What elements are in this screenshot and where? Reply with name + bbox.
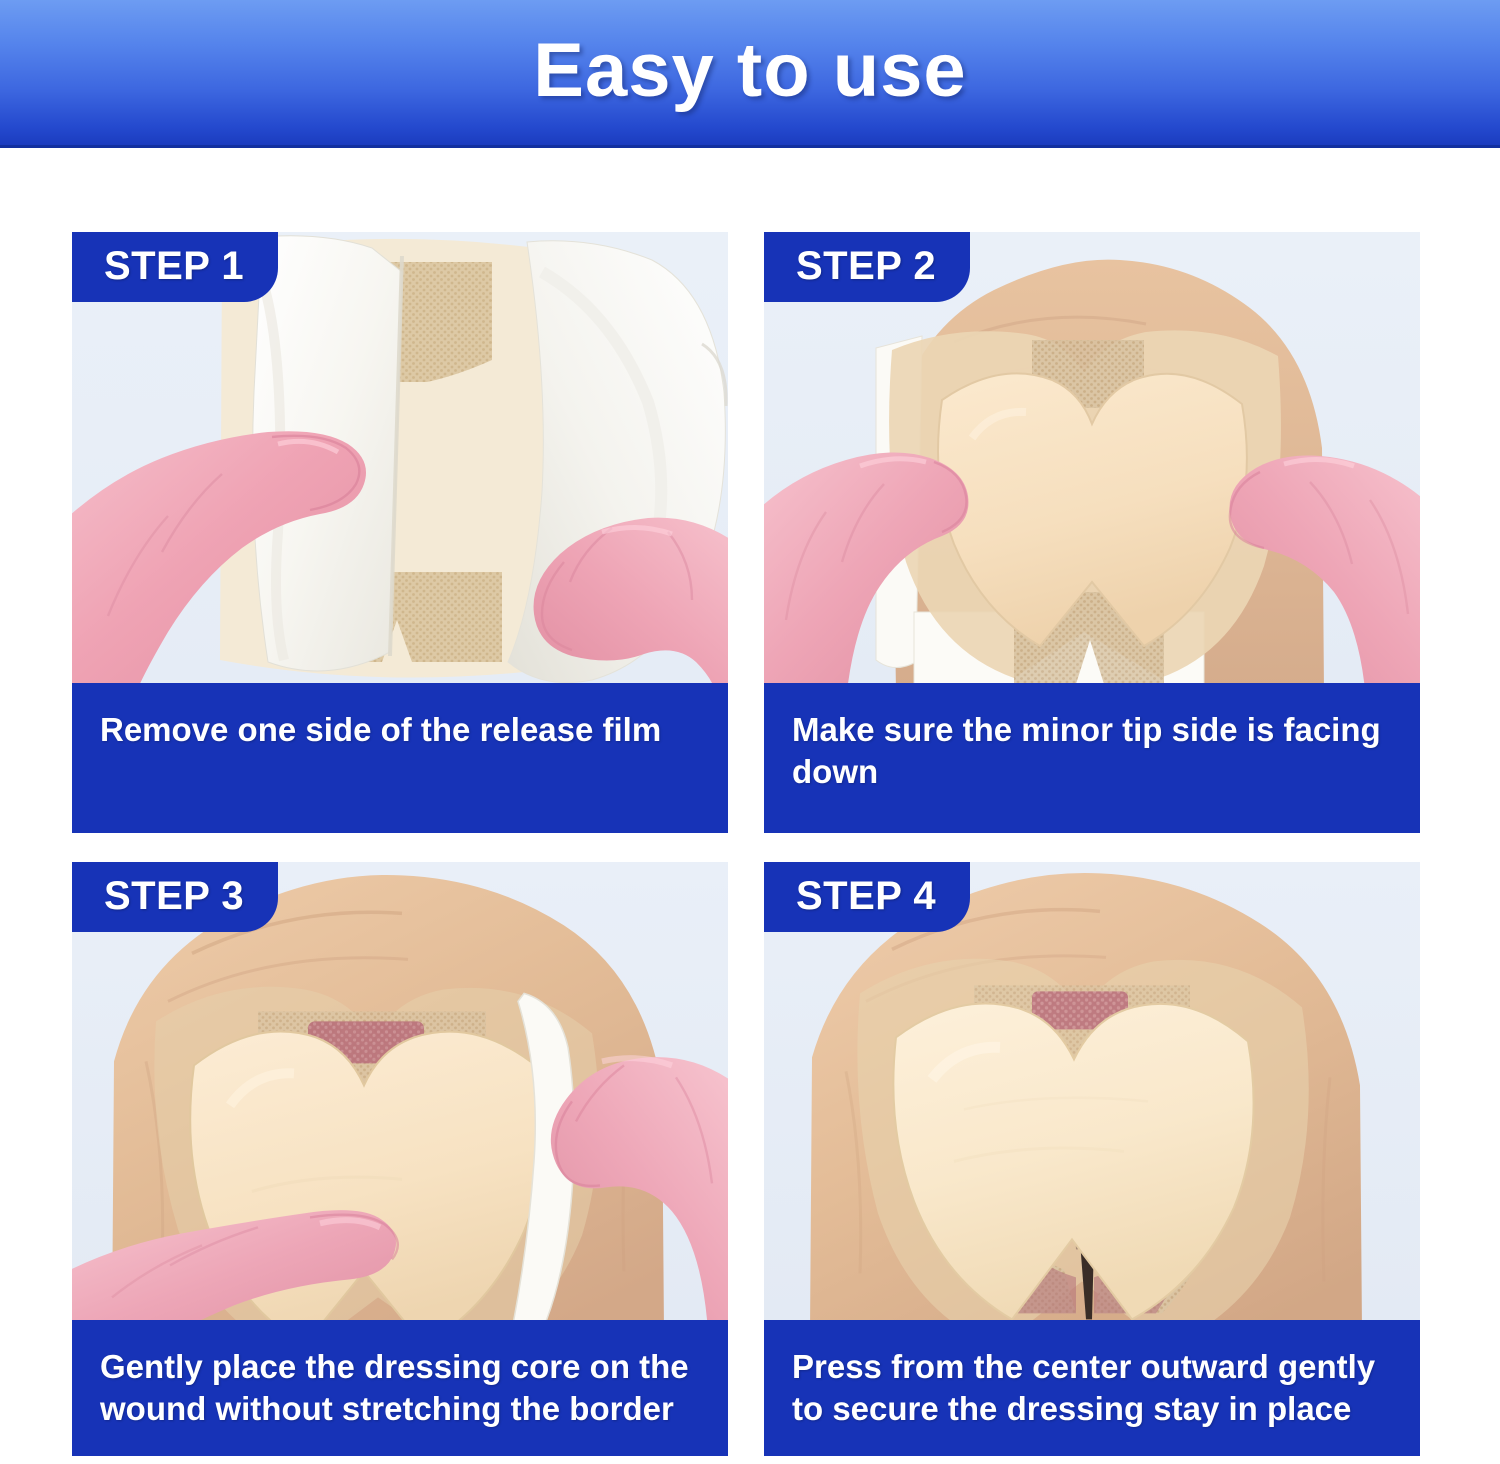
step-4-photo: STEP 4 [764,862,1420,1320]
step-2-badge: STEP 2 [764,232,970,302]
step-2-caption: Make sure the minor tip side is facing d… [764,683,1420,833]
steps-grid: STEP 1 Remove one side of the release fi… [72,232,1420,1456]
header-banner: Easy to use [0,0,1500,148]
step-3-badge: STEP 3 [72,862,278,932]
step-panel-4: STEP 4 Press from the center outward gen… [764,862,1420,1456]
step-1-badge: STEP 1 [72,232,278,302]
step-3-caption: Gently place the dressing core on the wo… [72,1320,728,1456]
step-2-photo: STEP 2 [764,232,1420,683]
step-panel-3: STEP 3 Gently place the dressing core on… [72,862,728,1456]
page-title: Easy to use [533,33,966,109]
step-1-photo: STEP 1 [72,232,728,683]
step-panel-1: STEP 1 Remove one side of the release fi… [72,232,728,833]
step-4-caption: Press from the center outward gently to … [764,1320,1420,1456]
step-1-caption: Remove one side of the release film [72,683,728,833]
step-4-badge: STEP 4 [764,862,970,932]
step-panel-2: STEP 2 Make sure the minor tip side is f… [764,232,1420,833]
step-3-photo: STEP 3 [72,862,728,1320]
